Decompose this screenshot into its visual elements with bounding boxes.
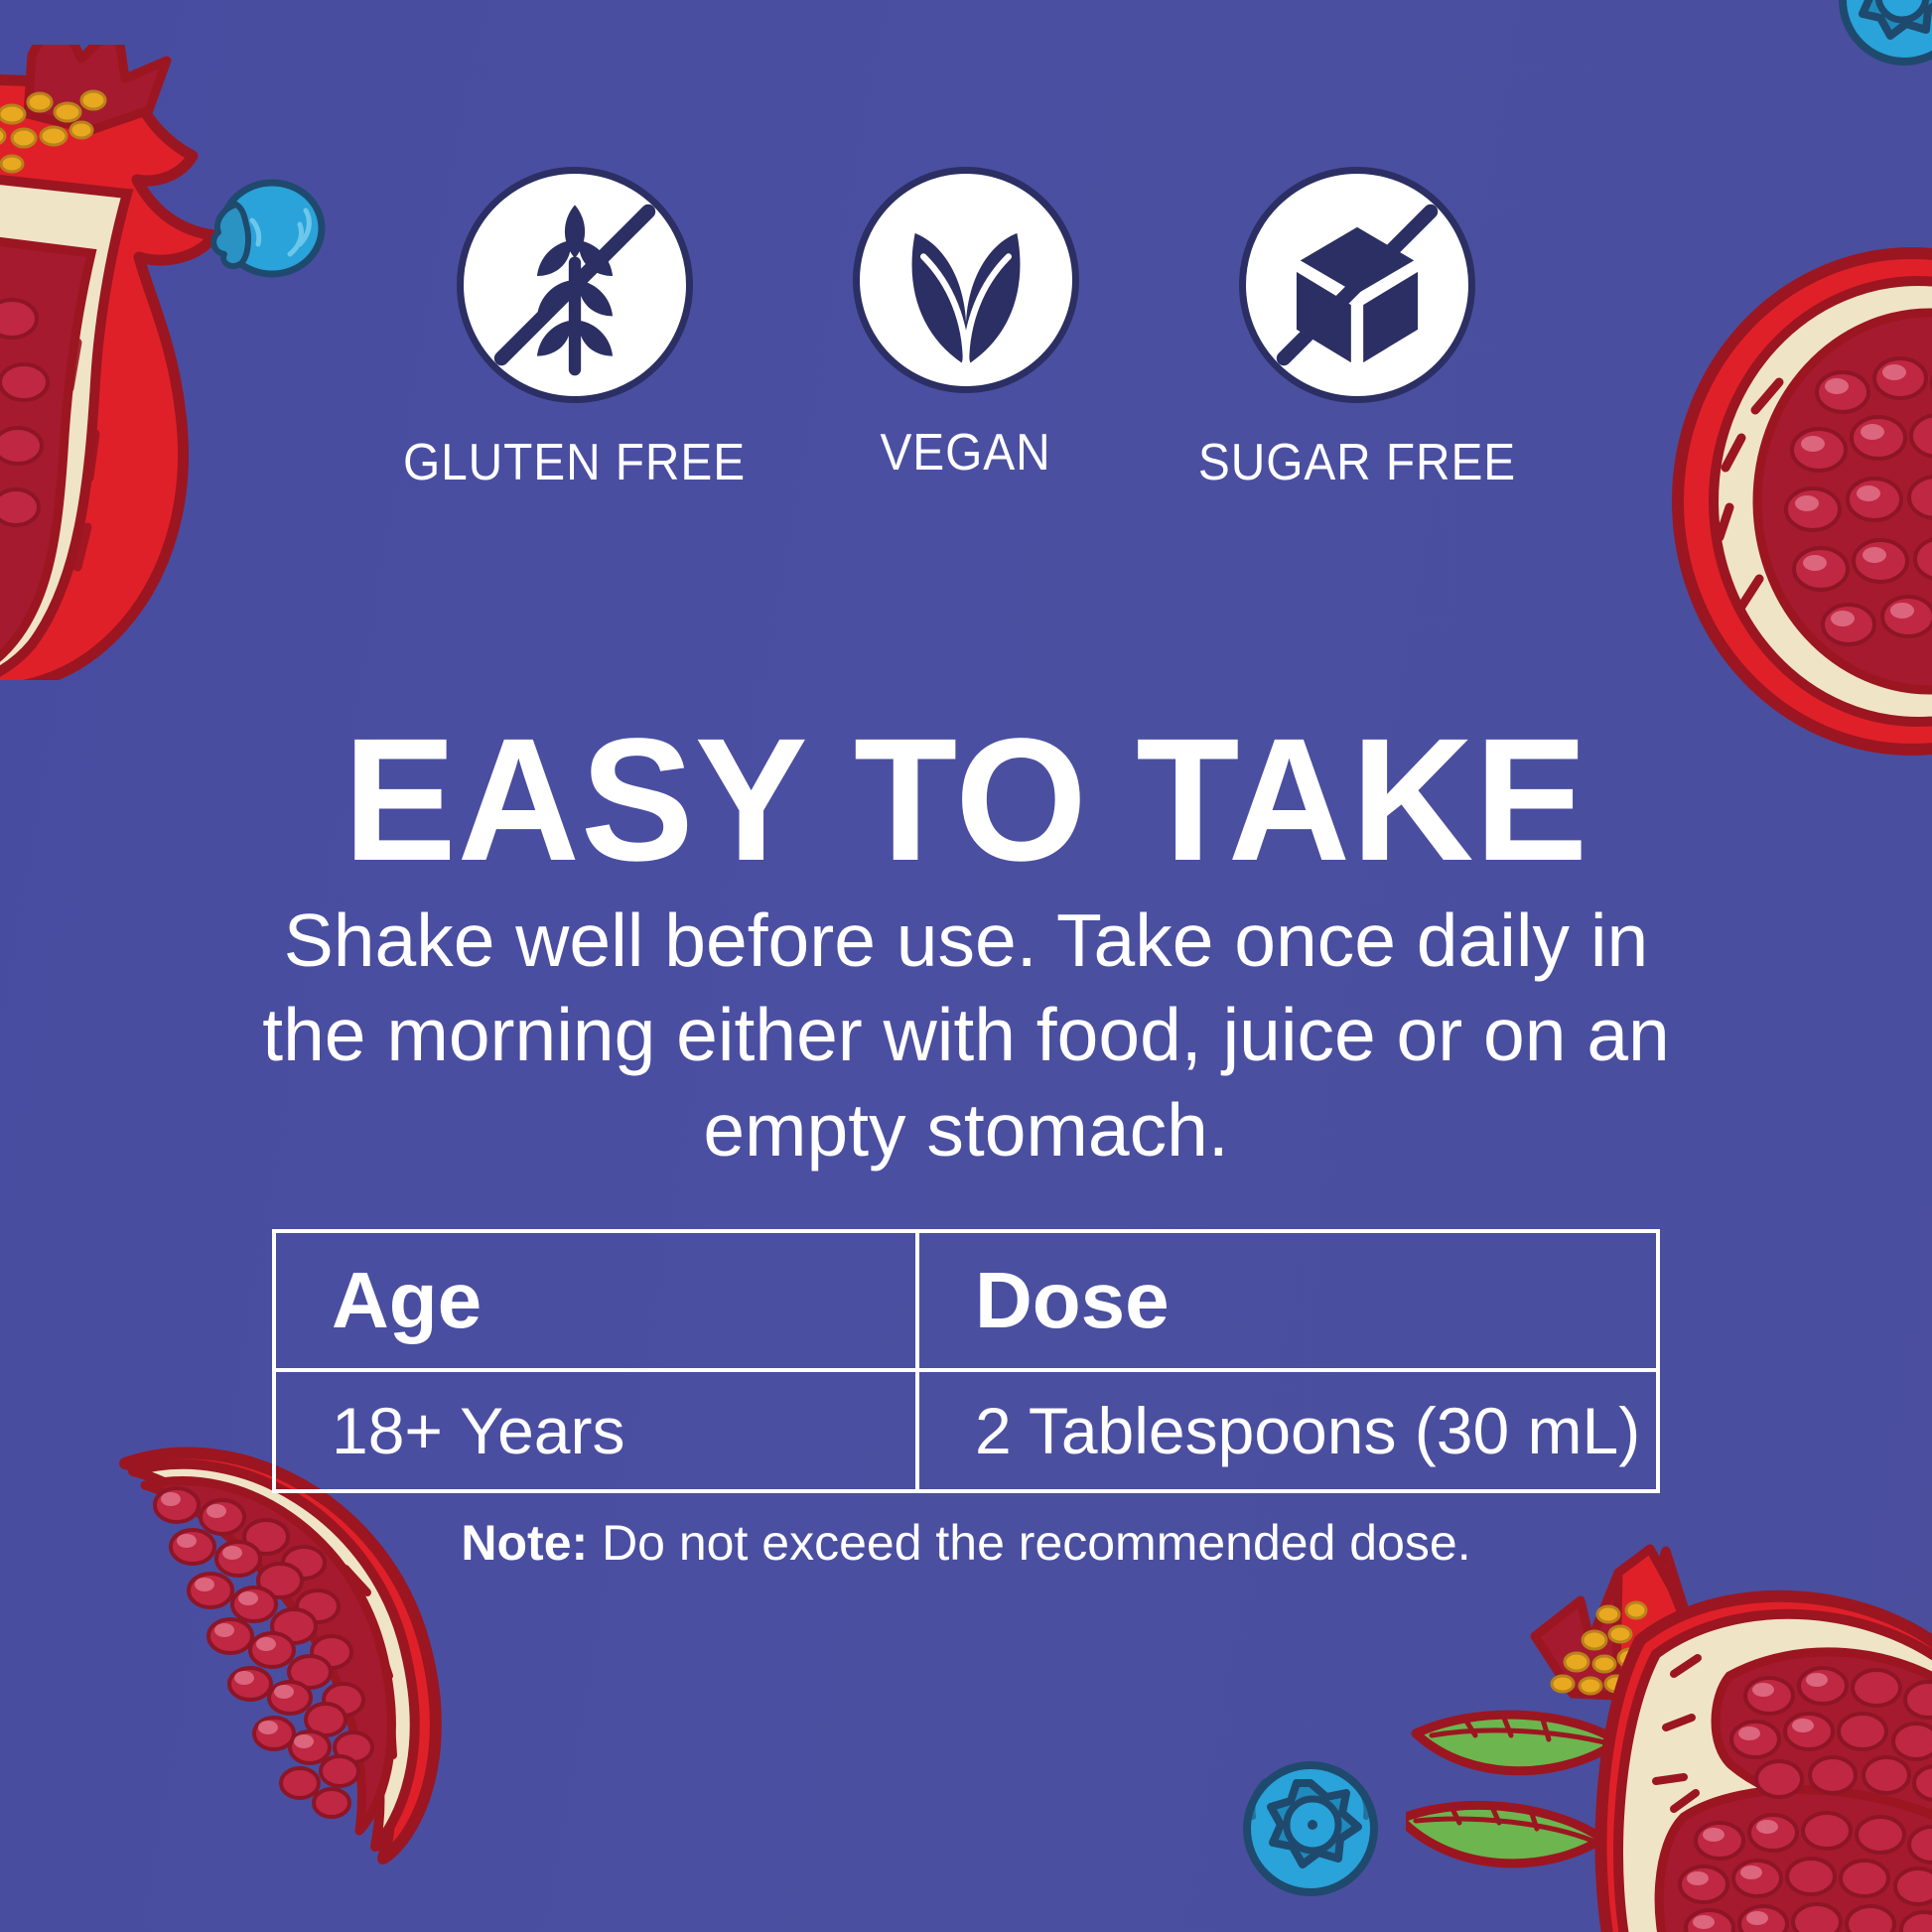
pomegranate-half-with-leaves-bottom-right xyxy=(1406,1529,1932,1932)
badge-circle-vegan xyxy=(853,167,1079,393)
column-header-age: Age xyxy=(274,1231,917,1370)
blueberry-bottom-center xyxy=(1223,1747,1398,1922)
column-header-dose: Dose xyxy=(917,1231,1658,1370)
certification-badges: GLUTEN FREE VEGAN xyxy=(0,167,1932,492)
dosage-table: Age Dose 18+ Years 2 Tablespoons (30 mL) xyxy=(272,1229,1660,1493)
badge-label-sugar-free: SUGAR FREE xyxy=(1198,433,1516,492)
badge-gluten-free: GLUTEN FREE xyxy=(426,167,724,492)
badge-vegan: VEGAN xyxy=(817,167,1115,483)
badge-circle-gluten-free xyxy=(457,167,693,403)
poster-canvas: GLUTEN FREE VEGAN xyxy=(0,0,1932,1932)
table-row: 18+ Years 2 Tablespoons (30 mL) xyxy=(274,1370,1658,1491)
badge-circle-sugar-free xyxy=(1239,167,1475,403)
cell-age: 18+ Years xyxy=(274,1370,917,1491)
cell-dose: 2 Tablespoons (30 mL) xyxy=(917,1370,1658,1491)
leaf-icon xyxy=(860,174,1072,386)
usage-instructions: Shake well before use. Take once daily i… xyxy=(256,894,1676,1177)
badge-label-gluten-free: GLUTEN FREE xyxy=(403,433,746,492)
wheat-slash-icon xyxy=(464,174,686,396)
sugar-cube-slash-icon xyxy=(1246,174,1468,396)
badge-sugar-free: SUGAR FREE xyxy=(1208,167,1506,492)
dosage-note: Note: Do not exceed the recommended dose… xyxy=(0,1514,1932,1572)
blueberry-top-right xyxy=(1827,0,1932,93)
page-title: EASY TO TAKE xyxy=(29,713,1903,888)
note-label: Note: xyxy=(461,1515,588,1571)
note-text: Do not exceed the recommended dose. xyxy=(602,1515,1471,1571)
table-header-row: Age Dose xyxy=(274,1231,1658,1370)
badge-label-vegan: VEGAN xyxy=(881,423,1051,483)
